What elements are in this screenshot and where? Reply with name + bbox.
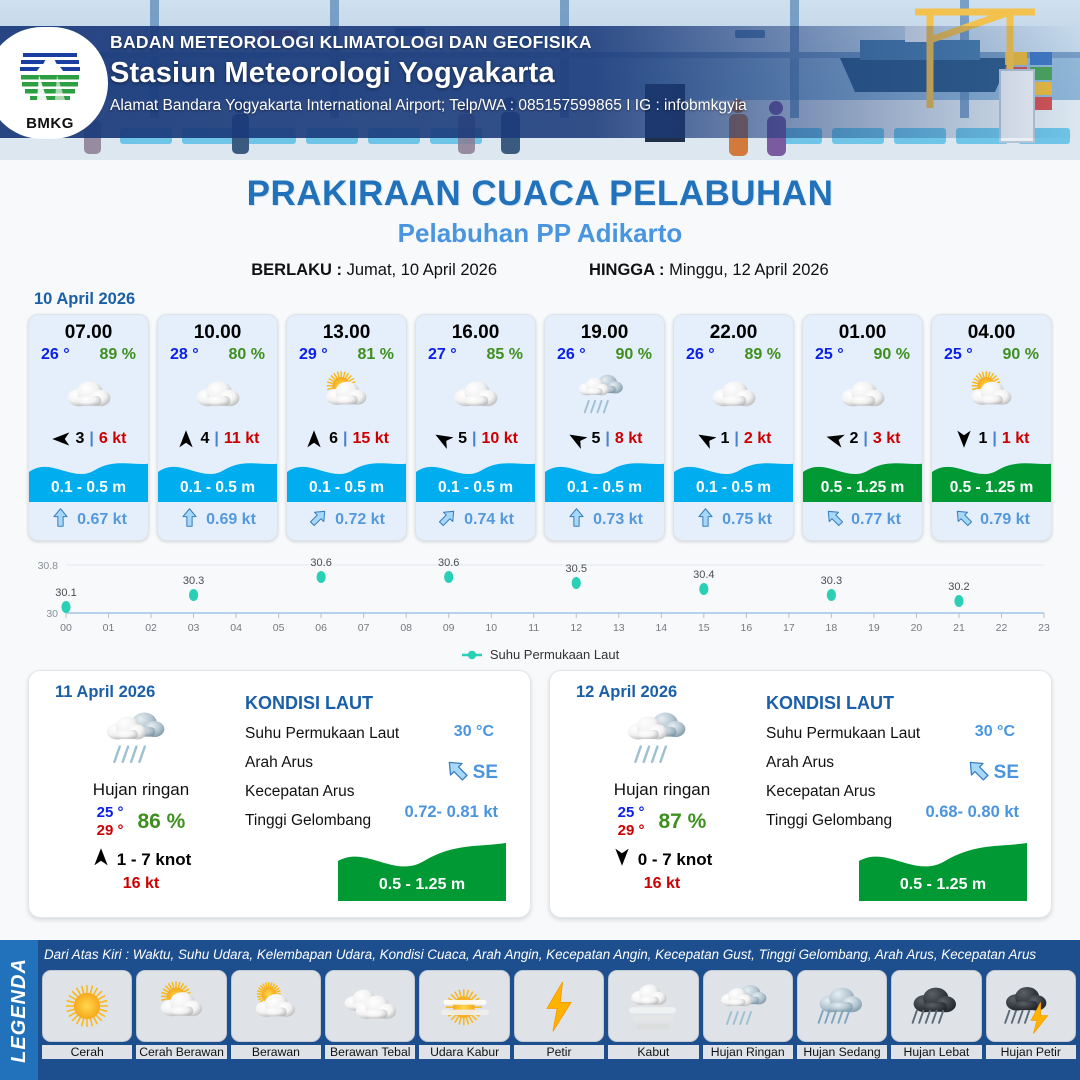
- card-wave-band: 0.1 - 0.5 m: [158, 454, 277, 502]
- panel-current-dir-value: SE: [444, 757, 498, 788]
- panel-wave-height: 0.5 - 1.25 m: [859, 876, 1027, 894]
- org-name: BADAN METEOROLOGI KLIMATOLOGI DAN GEOFIS…: [110, 32, 747, 53]
- weather-icon-berawan: [60, 366, 118, 424]
- panel-current-speed-value: 0.68- 0.80 kt: [925, 803, 1019, 822]
- weather-icon-cerah: [57, 976, 117, 1036]
- legend-icon-box: [136, 970, 226, 1042]
- svg-text:12: 12: [570, 622, 582, 634]
- legend-icon-box: [986, 970, 1076, 1042]
- card-wave-height: 0.1 - 0.5 m: [158, 479, 277, 497]
- panel-sst-value: 30 °C: [975, 723, 1015, 741]
- card-current-arrow-slot: [308, 507, 329, 533]
- panel-temp-min: 25 °: [97, 804, 124, 822]
- current-direction-arrow-icon: [50, 507, 71, 528]
- card-wind-scale: 3: [76, 430, 85, 448]
- weather-icon-berawan: [447, 366, 505, 424]
- daily-forecast-panel[interactable]: 12 April 2026 Hujan ringan: [549, 670, 1052, 918]
- panel-current-dir-value: SE: [965, 757, 1019, 788]
- forecast-card[interactable]: 10.00 28 ° 80 % 4 | 11 kt: [157, 314, 278, 541]
- panel-temp-col: 25 ° 29 °: [618, 804, 645, 839]
- card-humidity: 89 %: [100, 346, 136, 364]
- card-current-speed: 0.74 kt: [464, 511, 514, 529]
- current-direction-arrow-icon: [965, 757, 991, 783]
- berlaku-value: Jumat, 10 April 2026: [347, 261, 497, 279]
- card-wind-speed: 10 kt: [481, 430, 517, 448]
- card-temp-humidity: 26 ° 90 %: [545, 345, 664, 364]
- svg-text:14: 14: [655, 622, 667, 634]
- card-wave-height: 0.1 - 0.5 m: [287, 479, 406, 497]
- panel-wind-range: 0 - 7 knot: [638, 850, 713, 870]
- svg-text:22: 22: [996, 622, 1008, 634]
- card-current-speed: 0.77 kt: [851, 511, 901, 529]
- weather-icon-hujan-ringan: [718, 976, 778, 1036]
- svg-text:11: 11: [528, 622, 539, 634]
- svg-text:30.6: 30.6: [438, 557, 459, 569]
- card-humidity: 90 %: [874, 346, 910, 364]
- weather-icon-udara-kabur: [435, 976, 495, 1036]
- panel-right: KONDISI LAUT Suhu Permukaan Laut Arah Ar…: [239, 683, 516, 905]
- card-wave-band: 0.1 - 0.5 m: [545, 454, 664, 502]
- legend-item: Cerah Berawan: [136, 970, 226, 1059]
- card-wave-height: 0.1 - 0.5 m: [416, 479, 535, 497]
- panel-gust: 16 kt: [564, 875, 760, 893]
- card-temperature: 26 °: [686, 346, 715, 364]
- sst-chart-svg: 3030.80001020304050607080910111213141516…: [22, 555, 1058, 641]
- card-wind-arrow-slot: [304, 429, 324, 449]
- card-current-row: 0.69 kt: [158, 502, 277, 540]
- card-current-arrow-slot: [695, 507, 716, 533]
- panel-current-speed-value: 0.72- 0.81 kt: [404, 803, 498, 822]
- card-wind-row: 3 | 6 kt: [29, 426, 148, 454]
- svg-text:01: 01: [103, 622, 115, 634]
- legend-side-banner: LEGENDA: [0, 940, 38, 1080]
- legend-item: Hujan Sedang: [797, 970, 887, 1059]
- legend-side-label: LEGENDA: [8, 958, 31, 1063]
- weather-icon-petir: [529, 976, 589, 1036]
- card-temp-humidity: 29 ° 81 %: [287, 345, 406, 364]
- card-temp-humidity: 26 ° 89 %: [674, 345, 793, 364]
- svg-text:00: 00: [60, 622, 72, 634]
- svg-text:19: 19: [868, 622, 880, 634]
- card-wave-band: 0.5 - 1.25 m: [932, 454, 1051, 502]
- card-time: 13.00: [287, 315, 406, 345]
- card-wave-band: 0.1 - 0.5 m: [287, 454, 406, 502]
- card-current-arrow-slot: [437, 507, 458, 533]
- card-temp-humidity: 26 ° 89 %: [29, 345, 148, 364]
- card-wind-arrow-slot: [51, 429, 71, 449]
- card-temperature: 29 °: [299, 346, 328, 364]
- card-wave-height: 0.1 - 0.5 m: [29, 479, 148, 497]
- forecast-day-label: 10 April 2026: [34, 290, 1080, 309]
- card-wave-band: 0.1 - 0.5 m: [29, 454, 148, 502]
- card-wind-separator: |: [992, 430, 996, 448]
- card-time: 19.00: [545, 315, 664, 345]
- sst-legend-label: Suhu Permukaan Laut: [490, 647, 619, 662]
- sst-chart: 3030.80001020304050607080910111213141516…: [22, 555, 1058, 641]
- legend-note: Dari Atas Kiri : Waktu, Suhu Udara, Kele…: [44, 947, 1074, 962]
- card-weather-icon-slot: [545, 364, 664, 426]
- card-wind-speed: 6 kt: [99, 430, 127, 448]
- panel-left: 11 April 2026 Hujan ringan: [43, 683, 239, 905]
- forecast-card[interactable]: 19.00 26 ° 90 %: [544, 314, 665, 541]
- title-block: PRAKIRAAN CUACA PELABUHAN Pelabuhan PP A…: [0, 174, 1080, 280]
- card-time: 04.00: [932, 315, 1051, 345]
- card-time: 01.00: [803, 315, 922, 345]
- legend-icon-box: [797, 970, 887, 1042]
- forecast-card[interactable]: 22.00 26 ° 89 % 1 | 2 kt: [673, 314, 794, 541]
- hourly-forecast-row: 07.00 26 ° 89 % 3 | 6 kt: [0, 314, 1080, 541]
- wind-direction-arrow-icon: [176, 429, 196, 449]
- panel-temps-row: 25 ° 29 ° 87 %: [564, 804, 760, 839]
- panel-wave-height: 0.5 - 1.25 m: [338, 876, 506, 894]
- panel-wind-row: 1 - 7 knot: [43, 847, 239, 872]
- legend-icon-box: [514, 970, 604, 1042]
- panel-wind-arrow-slot: [612, 847, 632, 872]
- weather-icon-hujan-ringan: [103, 701, 179, 777]
- panel-sea-title: KONDISI LAUT: [245, 693, 516, 714]
- svg-text:05: 05: [273, 622, 285, 634]
- svg-text:30.4: 30.4: [693, 569, 714, 581]
- card-current-speed: 0.75 kt: [722, 511, 772, 529]
- card-wind-speed: 15 kt: [352, 430, 388, 448]
- forecast-card[interactable]: 16.00 27 ° 85 % 5 | 10 kt: [415, 314, 536, 541]
- card-current-row: 0.73 kt: [545, 502, 664, 540]
- legend-item-label: Hujan Petir: [986, 1045, 1076, 1059]
- svg-text:07: 07: [358, 622, 370, 634]
- card-weather-icon-slot: [29, 364, 148, 426]
- legend-item: Hujan Ringan: [703, 970, 793, 1059]
- berlaku-group: BERLAKU : Jumat, 10 April 2026: [251, 261, 497, 280]
- card-wind-scale: 5: [592, 430, 601, 448]
- forecast-card[interactable]: 07.00 26 ° 89 % 3 | 6 kt: [28, 314, 149, 541]
- bmkg-logo-icon: [13, 35, 87, 109]
- header-text-block: BADAN METEOROLOGI KLIMATOLOGI DAN GEOFIS…: [110, 32, 747, 115]
- panel-right: KONDISI LAUT Suhu Permukaan Laut Arah Ar…: [760, 683, 1037, 905]
- svg-text:23: 23: [1038, 622, 1050, 634]
- current-direction-arrow-icon: [824, 507, 845, 528]
- panel-temp-max: 29 °: [97, 822, 124, 840]
- card-current-speed: 0.73 kt: [593, 511, 643, 529]
- card-wind-separator: |: [734, 430, 738, 448]
- card-weather-icon-slot: [932, 364, 1051, 426]
- legend-item: Cerah: [42, 970, 132, 1059]
- card-temperature: 26 °: [41, 346, 70, 364]
- panel-wind-range: 1 - 7 knot: [117, 850, 192, 870]
- card-wind-scale: 2: [850, 430, 859, 448]
- card-current-arrow-slot: [824, 507, 845, 533]
- legend-item-label: Petir: [514, 1045, 604, 1059]
- weather-icon-hujan-sedang: [812, 976, 872, 1036]
- panel-humidity: 87 %: [658, 810, 706, 834]
- card-wave-band: 0.1 - 0.5 m: [416, 454, 535, 502]
- card-wave-height: 0.5 - 1.25 m: [803, 479, 922, 497]
- card-current-speed: 0.79 kt: [980, 511, 1030, 529]
- forecast-card[interactable]: 01.00 25 ° 90 % 2 | 3 kt: [802, 314, 923, 541]
- card-current-arrow-slot: [953, 507, 974, 533]
- panel-wind-arrow-slot: [91, 847, 111, 872]
- current-direction-arrow-icon: [953, 507, 974, 528]
- card-wind-scale: 1: [979, 430, 988, 448]
- legend-item: Hujan Lebat: [891, 970, 981, 1059]
- legend-item: Hujan Petir: [986, 970, 1076, 1059]
- card-humidity: 85 %: [487, 346, 523, 364]
- wind-direction-arrow-icon: [304, 429, 324, 449]
- card-wind-arrow-slot: [176, 429, 196, 449]
- card-wind-row: 1 | 2 kt: [674, 426, 793, 454]
- card-current-row: 0.72 kt: [287, 502, 406, 540]
- card-humidity: 80 %: [229, 346, 265, 364]
- panel-gust: 16 kt: [43, 875, 239, 893]
- card-wind-row: 1 | 1 kt: [932, 426, 1051, 454]
- card-wind-arrow-slot: [696, 429, 716, 449]
- weather-icon-berawan: [705, 366, 763, 424]
- legend-item: Udara Kabur: [419, 970, 509, 1059]
- legend-footer: LEGENDA Dari Atas Kiri : Waktu, Suhu Uda…: [0, 940, 1080, 1080]
- weather-icon-berawan: [834, 366, 892, 424]
- card-wave-band: 0.1 - 0.5 m: [674, 454, 793, 502]
- card-wind-separator: |: [89, 430, 93, 448]
- card-temperature: 25 °: [815, 346, 844, 364]
- card-temp-humidity: 25 ° 90 %: [932, 345, 1051, 364]
- card-wind-row: 5 | 8 kt: [545, 426, 664, 454]
- station-name: Stasiun Meteorologi Yogyakarta: [110, 57, 747, 90]
- panel-temp-min: 25 °: [618, 804, 645, 822]
- svg-text:30.8: 30.8: [38, 560, 59, 572]
- hingga-value: Minggu, 12 April 2026: [669, 261, 829, 279]
- sst-chart-legend: Suhu Permukaan Laut: [0, 647, 1080, 662]
- current-direction-arrow-icon: [444, 757, 470, 783]
- svg-text:06: 06: [315, 622, 327, 634]
- panel-wave-shape: 0.5 - 1.25 m: [859, 839, 1027, 901]
- svg-text:30.3: 30.3: [821, 575, 842, 587]
- current-direction-arrow-icon: [695, 507, 716, 528]
- card-humidity: 90 %: [1003, 346, 1039, 364]
- card-weather-icon-slot: [416, 364, 535, 426]
- page-header: BMKG BADAN METEOROLOGI KLIMATOLOGI DAN G…: [0, 0, 1080, 160]
- card-wind-arrow-slot: [433, 429, 453, 449]
- panel-left: 12 April 2026 Hujan ringan: [564, 683, 760, 905]
- legend-item: Petir: [514, 970, 604, 1059]
- svg-text:09: 09: [443, 622, 455, 634]
- card-current-speed: 0.67 kt: [77, 511, 127, 529]
- card-current-row: 0.74 kt: [416, 502, 535, 540]
- panel-condition: Hujan ringan: [43, 780, 239, 800]
- weather-icon-berawan: [189, 366, 247, 424]
- card-wind-scale: 4: [201, 430, 210, 448]
- weather-icon-hujan-ringan: [576, 366, 634, 424]
- card-wave-band: 0.5 - 1.25 m: [803, 454, 922, 502]
- wind-direction-arrow-icon: [51, 429, 71, 449]
- wind-direction-arrow-icon: [825, 429, 845, 449]
- svg-text:18: 18: [826, 622, 838, 634]
- svg-text:30.3: 30.3: [183, 575, 204, 587]
- card-wind-row: 4 | 11 kt: [158, 426, 277, 454]
- current-direction-arrow-icon: [308, 507, 329, 528]
- hingga-group: HINGGA : Minggu, 12 April 2026: [589, 261, 829, 280]
- panel-current-arrow-slot: [444, 757, 470, 788]
- svg-text:02: 02: [145, 622, 157, 634]
- panel-current-dir-text: SE: [473, 762, 498, 784]
- forecast-card[interactable]: 13.00 29 ° 81 % 6 | 15 kt: [286, 314, 407, 541]
- wind-direction-arrow-icon: [954, 429, 974, 449]
- sst-legend-marker-icon: [461, 649, 483, 661]
- svg-text:15: 15: [698, 622, 710, 634]
- svg-text:17: 17: [783, 622, 795, 634]
- legend-item-row: Cerah Cerah Berawan: [42, 970, 1076, 1059]
- card-wind-speed: 11 kt: [224, 430, 260, 448]
- legend-icon-box: [42, 970, 132, 1042]
- card-wind-separator: |: [605, 430, 609, 448]
- card-current-row: 0.79 kt: [932, 502, 1051, 540]
- card-temperature: 25 °: [944, 346, 973, 364]
- station-address: Alamat Bandara Yogyakarta International …: [110, 97, 747, 115]
- panel-humidity: 86 %: [137, 810, 185, 834]
- panel-temps-row: 25 ° 29 ° 86 %: [43, 804, 239, 839]
- current-direction-arrow-icon: [179, 507, 200, 528]
- page-subtitle: Pelabuhan PP Adikarto: [0, 218, 1080, 249]
- legend-item-label: Berawan: [231, 1045, 321, 1059]
- weather-icon-berawan-sun: [246, 976, 306, 1036]
- card-temperature: 26 °: [557, 346, 586, 364]
- card-time: 22.00: [674, 315, 793, 345]
- svg-text:16: 16: [741, 622, 753, 634]
- bmkg-logo-text: BMKG: [13, 115, 87, 132]
- card-weather-icon-slot: [674, 364, 793, 426]
- card-weather-icon-slot: [158, 364, 277, 426]
- card-wind-scale: 6: [329, 430, 338, 448]
- card-time: 16.00: [416, 315, 535, 345]
- card-wind-speed: 8 kt: [615, 430, 643, 448]
- card-temperature: 27 °: [428, 346, 457, 364]
- hingga-label: HINGGA :: [589, 261, 664, 279]
- validity-row: BERLAKU : Jumat, 10 April 2026 HINGGA : …: [0, 261, 1080, 280]
- svg-text:30.1: 30.1: [55, 587, 76, 599]
- svg-text:21: 21: [953, 622, 965, 634]
- panel-sst-value: 30 °C: [454, 723, 494, 741]
- legend-item-label: Hujan Ringan: [703, 1045, 793, 1059]
- card-wave-height: 0.1 - 0.5 m: [545, 479, 664, 497]
- card-wind-separator: |: [214, 430, 218, 448]
- card-wave-height: 0.1 - 0.5 m: [674, 479, 793, 497]
- card-wind-row: 5 | 10 kt: [416, 426, 535, 454]
- wind-direction-arrow-icon: [567, 429, 587, 449]
- card-current-arrow-slot: [179, 507, 200, 533]
- card-wind-speed: 1 kt: [1002, 430, 1030, 448]
- card-wind-row: 6 | 15 kt: [287, 426, 406, 454]
- weather-icon-cerah-berawan: [152, 976, 212, 1036]
- wind-direction-arrow-icon: [91, 847, 111, 867]
- card-wind-separator: |: [472, 430, 476, 448]
- card-current-arrow-slot: [566, 507, 587, 533]
- page-title: PRAKIRAAN CUACA PELABUHAN: [0, 174, 1080, 214]
- legend-item-label: Cerah: [42, 1045, 132, 1059]
- svg-text:30.6: 30.6: [310, 557, 331, 569]
- svg-text:03: 03: [188, 622, 200, 634]
- panel-current-arrow-slot: [965, 757, 991, 788]
- current-direction-arrow-icon: [437, 507, 458, 528]
- legend-item-label: Hujan Sedang: [797, 1045, 887, 1059]
- weather-icon-kabut: [623, 976, 683, 1036]
- card-temp-humidity: 27 ° 85 %: [416, 345, 535, 364]
- panel-wind-row: 0 - 7 knot: [564, 847, 760, 872]
- daily-forecast-panel[interactable]: 11 April 2026 Hujan ringan: [28, 670, 531, 918]
- svg-text:30: 30: [46, 608, 58, 620]
- legend-item: Kabut: [608, 970, 698, 1059]
- card-wind-arrow-slot: [825, 429, 845, 449]
- legend-icon-box: [891, 970, 981, 1042]
- card-humidity: 89 %: [745, 346, 781, 364]
- card-humidity: 90 %: [616, 346, 652, 364]
- legend-item-label: Cerah Berawan: [136, 1045, 226, 1059]
- legend-item-label: Kabut: [608, 1045, 698, 1059]
- card-wind-scale: 5: [458, 430, 467, 448]
- card-temp-humidity: 25 ° 90 %: [803, 345, 922, 364]
- svg-text:20: 20: [911, 622, 923, 634]
- bmkg-logo: BMKG: [0, 27, 108, 139]
- legend-icon-box: [325, 970, 415, 1042]
- legend-item: Berawan Tebal: [325, 970, 415, 1059]
- card-current-row: 0.67 kt: [29, 502, 148, 540]
- current-direction-arrow-icon: [566, 507, 587, 528]
- svg-text:04: 04: [230, 622, 242, 634]
- card-wind-speed: 3 kt: [873, 430, 901, 448]
- legend-item-label: Hujan Lebat: [891, 1045, 981, 1059]
- svg-text:10: 10: [485, 622, 497, 634]
- card-weather-icon-slot: [803, 364, 922, 426]
- card-wind-separator: |: [863, 430, 867, 448]
- panel-weather-icon-slot: [43, 700, 239, 778]
- panel-current-dir-text: SE: [994, 762, 1019, 784]
- card-wind-scale: 1: [721, 430, 730, 448]
- card-wind-speed: 2 kt: [744, 430, 772, 448]
- card-wave-height: 0.5 - 1.25 m: [932, 479, 1051, 497]
- svg-text:13: 13: [613, 622, 625, 634]
- card-weather-icon-slot: [287, 364, 406, 426]
- weather-icon-cerah-berawan: [963, 366, 1021, 424]
- legend-icon-box: [231, 970, 321, 1042]
- wind-direction-arrow-icon: [612, 847, 632, 867]
- legend-icon-box: [419, 970, 509, 1042]
- panel-wave-shape: 0.5 - 1.25 m: [338, 839, 506, 901]
- card-wind-separator: |: [343, 430, 347, 448]
- card-temperature: 28 °: [170, 346, 199, 364]
- legend-item-label: Udara Kabur: [419, 1045, 509, 1059]
- svg-text:08: 08: [400, 622, 412, 634]
- weather-icon-hujan-petir: [1001, 976, 1061, 1036]
- card-current-arrow-slot: [50, 507, 71, 533]
- legend-icon-box: [703, 970, 793, 1042]
- legend-icon-box: [608, 970, 698, 1042]
- panel-temp-max: 29 °: [618, 822, 645, 840]
- card-wind-arrow-slot: [567, 429, 587, 449]
- card-current-row: 0.75 kt: [674, 502, 793, 540]
- card-temp-humidity: 28 ° 80 %: [158, 345, 277, 364]
- panel-temp-col: 25 ° 29 °: [97, 804, 124, 839]
- card-current-speed: 0.69 kt: [206, 511, 256, 529]
- daily-forecast-panels: 11 April 2026 Hujan ringan: [0, 662, 1080, 918]
- card-wind-row: 2 | 3 kt: [803, 426, 922, 454]
- weather-icon-hujan-ringan: [624, 701, 700, 777]
- weather-icon-cerah-berawan: [318, 366, 376, 424]
- card-time: 10.00: [158, 315, 277, 345]
- panel-weather-icon-slot: [564, 700, 760, 778]
- weather-icon-hujan-lebat: [906, 976, 966, 1036]
- forecast-card[interactable]: 04.00 25 ° 90 % 1 | 1 kt: [931, 314, 1052, 541]
- card-time: 07.00: [29, 315, 148, 345]
- berlaku-label: BERLAKU :: [251, 261, 342, 279]
- panel-sea-title: KONDISI LAUT: [766, 693, 1037, 714]
- svg-text:30.2: 30.2: [948, 581, 969, 593]
